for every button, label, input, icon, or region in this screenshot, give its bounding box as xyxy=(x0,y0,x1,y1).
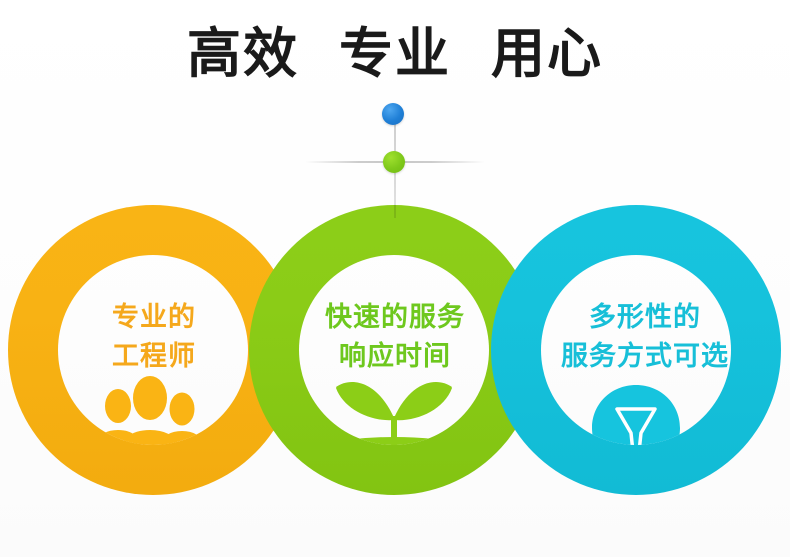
venn-rings-graphic xyxy=(0,0,790,557)
infographic-canvas: 高效专业用心 xyxy=(0,0,790,557)
ring-cyan xyxy=(0,0,790,557)
